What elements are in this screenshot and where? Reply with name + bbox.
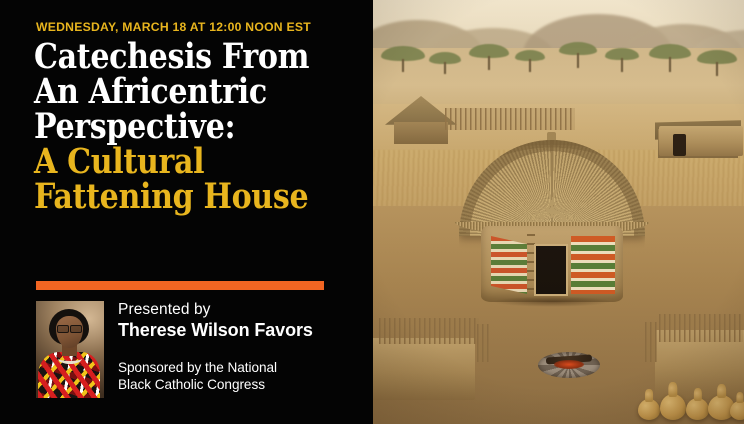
stick-fence-mid-right: [645, 322, 657, 362]
poster-text-panel: WEDNESDAY, MARCH 18 AT 12:00 NOON EST Ca…: [0, 0, 373, 424]
title-line-2: An Africentric: [34, 75, 309, 109]
acacia-tree: [559, 42, 597, 68]
hut-doorway-dark: [673, 134, 686, 156]
calabash-gourds: [634, 364, 742, 420]
orange-divider-rule: [36, 281, 324, 290]
stick-fence-foreground-left: [379, 318, 479, 344]
zigzag-pattern-right: [571, 236, 615, 294]
sponsor-credit: Sponsored by the National Black Catholic…: [118, 360, 348, 393]
hut-doorway: [534, 244, 568, 296]
stick-fence-foreground-right: [659, 314, 743, 342]
sponsor-line-1: Sponsored by the National: [118, 360, 348, 377]
fire-pit-embers: [554, 360, 584, 369]
gourd: [638, 399, 660, 420]
event-datetime: WEDNESDAY, MARCH 18 AT 12:00 NOON EST: [36, 20, 346, 34]
gourd: [686, 398, 709, 420]
title-line-1: Catechesis From: [34, 40, 309, 74]
fire-pit: [538, 352, 600, 378]
acacia-tree: [469, 44, 509, 70]
poster-title: Catechesis From An Africentric Perspecti…: [34, 40, 354, 215]
acacia-tree: [429, 52, 461, 74]
title-line-3: Perspective:: [34, 110, 309, 144]
village-photograph: [373, 0, 744, 424]
portrait-necklace: [58, 353, 82, 364]
title-line-4: A Cultural: [34, 145, 309, 179]
acacia-tree: [649, 44, 691, 72]
hut-ground-shadow: [473, 296, 631, 310]
portrait-glasses: [56, 325, 83, 331]
acacia-tree: [697, 50, 737, 76]
gourd: [730, 401, 744, 420]
presenter-credit: Presented by Therese Wilson Favors: [118, 301, 348, 341]
decorated-thatch-hut: [459, 126, 645, 308]
presented-by-label: Presented by: [118, 301, 348, 319]
foreground-wall-left: [373, 338, 475, 400]
presenter-name: Therese Wilson Favors: [118, 320, 348, 341]
compound-wall-right: [659, 126, 743, 156]
stick-fence-mid: [477, 324, 489, 362]
event-poster: WEDNESDAY, MARCH 18 AT 12:00 NOON EST Ca…: [0, 0, 744, 424]
chevron-pattern-left: [491, 236, 527, 294]
acacia-tree: [381, 46, 425, 72]
acacia-tree: [515, 50, 545, 72]
gourd: [660, 394, 686, 420]
hut-wall: [481, 226, 623, 302]
acacia-tree: [605, 48, 639, 72]
title-line-5: Fattening House: [34, 180, 309, 214]
presenter-portrait: [36, 301, 104, 398]
sponsor-line-2: Black Catholic Congress: [118, 377, 348, 394]
